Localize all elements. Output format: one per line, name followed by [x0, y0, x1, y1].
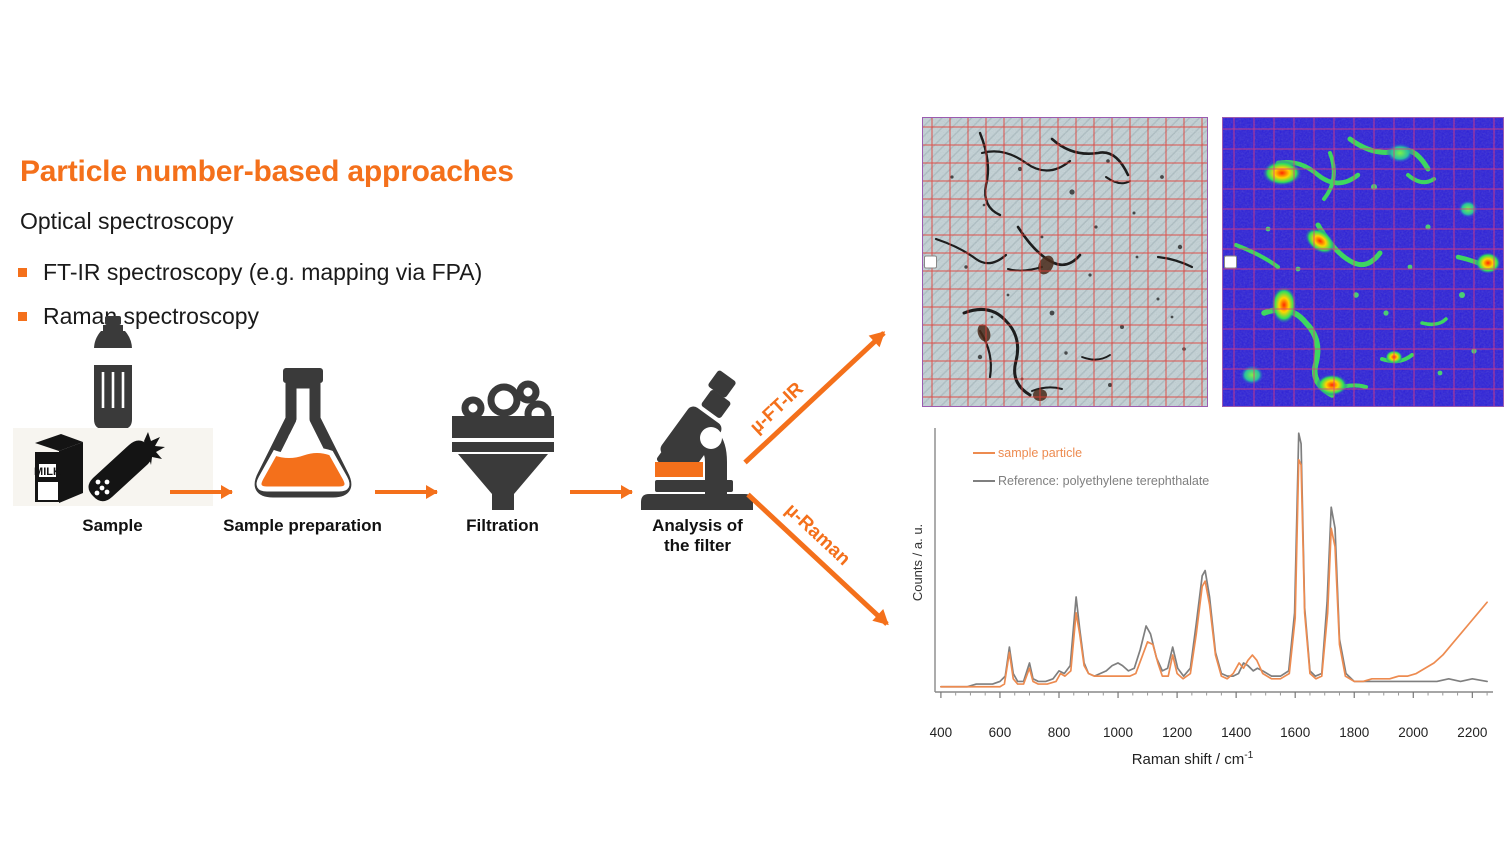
legend-item-reference: Reference: polyethylene terephthalate [973, 474, 1209, 488]
image-marker-tag [924, 256, 937, 269]
chart-x-tick-labels: 4006008001000120014001600180020002200 [885, 725, 1500, 743]
workflow-step-label: Analysis of the filter [600, 516, 795, 556]
workflow-diagram: MILK Sample [0, 360, 800, 630]
legend-swatch [973, 480, 995, 483]
x-tick-label: 1400 [1221, 725, 1251, 740]
raman-spectrum-chart: Counts / a. u. sample particle Reference… [885, 420, 1500, 790]
svg-text:MILK: MILK [34, 466, 61, 478]
x-axis-label-text: Raman shift / cm [1132, 751, 1245, 768]
legend-swatch [973, 452, 995, 455]
workflow-step-label: Filtration [405, 516, 600, 536]
x-axis-label-sup: -1 [1244, 750, 1253, 761]
x-tick-label: 800 [1048, 725, 1071, 740]
section-subtitle: Optical spectroscopy [20, 208, 233, 235]
workflow-step-analysis: Analysis of the filter [600, 370, 795, 556]
erlenmeyer-flask-icon [200, 370, 405, 510]
x-tick-label: 2200 [1457, 725, 1487, 740]
x-tick-label: 400 [930, 725, 953, 740]
workflow-step-label: Sample preparation [200, 516, 405, 536]
x-tick-label: 1200 [1162, 725, 1192, 740]
bullet-label: FT-IR spectroscopy (e.g. mapping via FPA… [43, 259, 482, 286]
sample-foods-icon: MILK [10, 370, 215, 510]
fpa-chemical-map [1222, 117, 1504, 407]
x-tick-label: 1000 [1103, 725, 1133, 740]
workflow-step-filtration: Filtration [405, 370, 600, 536]
x-tick-label: 1800 [1339, 725, 1369, 740]
slide-canvas: Particle number-based approaches Optical… [0, 0, 1504, 846]
funnel-icon [405, 370, 600, 510]
page-title: Particle number-based approaches [20, 155, 514, 189]
chart-x-axis-label: Raman shift / cm-1 [885, 750, 1500, 768]
workflow-step-sample: MILK Sample [10, 370, 215, 536]
chart-legend: sample particle Reference: polyethylene … [973, 446, 1209, 502]
x-tick-label: 2000 [1398, 725, 1428, 740]
list-item: FT-IR spectroscopy (e.g. mapping via FPA… [18, 250, 482, 294]
legend-label: sample particle [998, 446, 1082, 460]
legend-label: Reference: polyethylene terephthalate [998, 474, 1209, 488]
optical-micrograph [922, 117, 1208, 407]
workflow-step-label: Sample [10, 516, 215, 536]
x-tick-label: 600 [989, 725, 1012, 740]
chart-y-axis-label: Counts / a. u. [910, 524, 925, 601]
x-tick-label: 1600 [1280, 725, 1310, 740]
image-marker-tag [1224, 256, 1237, 269]
workflow-step-sample-preparation: Sample preparation [200, 370, 405, 536]
legend-item-sample: sample particle [973, 446, 1209, 460]
bullet-square-icon [18, 268, 27, 277]
